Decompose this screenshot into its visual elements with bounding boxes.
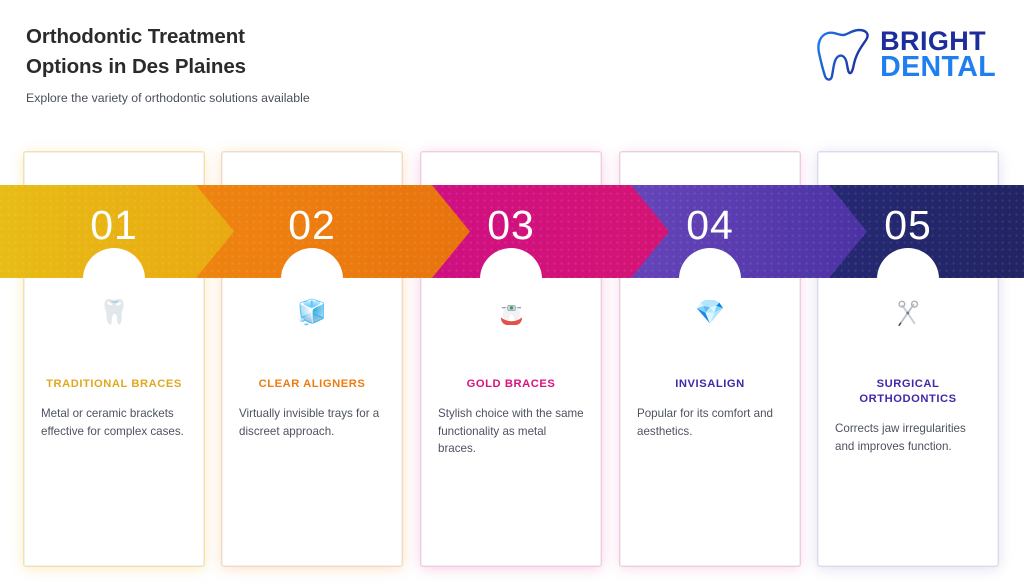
banner-notch-5: [877, 248, 939, 278]
header: Orthodontic Treatment Options in Des Pla…: [26, 22, 586, 106]
page-title-line-2: Options in Des Plaines: [26, 52, 586, 82]
banner-notch-4: [679, 248, 741, 278]
tooth-emoji-icon: 🦷: [39, 293, 189, 333]
tooth-icon: [814, 26, 876, 84]
step-card-1-title: TRADITIONAL BRACES: [39, 377, 189, 392]
step-card-3-title: GOLD BRACES: [436, 377, 586, 392]
banner-notch-2: [281, 248, 343, 278]
banner-notch-1: [83, 248, 145, 278]
step-card-1-description: Metal or ceramic brackets effective for …: [39, 405, 189, 440]
chevron-step-banner: 01 02 03 04 05: [0, 185, 1024, 278]
step-card-5-description: Corrects jaw irregularities and improves…: [833, 420, 983, 455]
step-card-1-body: 🦷 TRADITIONAL BRACES Metal or ceramic br…: [25, 293, 203, 440]
step-number-3: 03: [421, 199, 601, 251]
step-number-2: 02: [222, 199, 402, 251]
step-number-4: 04: [620, 199, 800, 251]
step-number-row: 01 02 03 04 05: [0, 185, 1024, 278]
step-card-2-description: Virtually invisible trays for a discreet…: [237, 405, 387, 440]
step-card-2-title: CLEAR ALIGNERS: [237, 377, 387, 392]
step-card-5-title: SURGICAL ORTHODONTICS: [833, 377, 983, 407]
step-card-4-title: INVISALIGN: [635, 377, 785, 392]
step-card-5-body: SURGICAL ORTHODONTICS Corrects jaw irreg…: [819, 293, 997, 455]
logo-word-dental: DENTAL: [880, 54, 996, 81]
step-card-4-body: 💎 INVISALIGN Popular for its comfort and…: [621, 293, 799, 440]
braces-tooth-icon: [436, 293, 586, 333]
step-number-1: 01: [24, 199, 204, 251]
page-title-line-1: Orthodontic Treatment: [26, 22, 586, 52]
surgical-scissors-icon: [833, 293, 983, 333]
step-card-3-body: GOLD BRACES Stylish choice with the same…: [422, 293, 600, 458]
ice-cube-emoji-icon: 🧊: [237, 293, 387, 333]
step-number-5: 05: [818, 199, 998, 251]
banner-notch-3: [480, 248, 542, 278]
infographic-page: Orthodontic Treatment Options in Des Pla…: [0, 0, 1024, 586]
step-card-2-body: 🧊 CLEAR ALIGNERS Virtually invisible tra…: [223, 293, 401, 440]
page-subtitle: Explore the variety of orthodontic solut…: [26, 90, 586, 106]
logo-wordmark: BRIGHT DENTAL: [880, 29, 996, 81]
brand-logo: BRIGHT DENTAL: [814, 26, 996, 84]
step-card-3-description: Stylish choice with the same functionali…: [436, 405, 586, 458]
diamond-emoji-icon: 💎: [635, 293, 785, 333]
step-card-4-description: Popular for its comfort and aesthetics.: [635, 405, 785, 440]
